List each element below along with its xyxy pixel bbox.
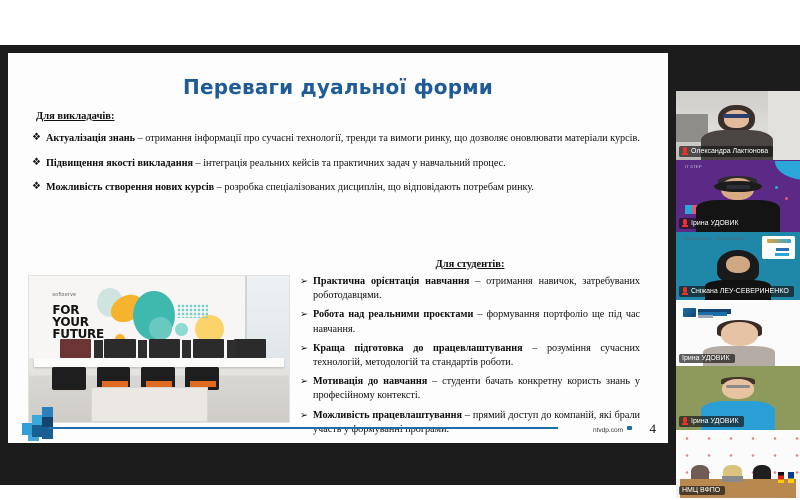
mic-muted-icon <box>682 287 688 296</box>
screenshot-root: Переваги дуальної форми Для викладачів: … <box>0 0 800 500</box>
participant-nameplate-1: Олександра Лактіонова <box>679 146 773 157</box>
photo-monitor <box>234 339 265 358</box>
participant-name-3: Сніжана ЛЕУ-СЕВЕРИНЕНКО <box>691 288 789 295</box>
participant-tile-3[interactable]: Сніжана ЛЕУ-СЕВЕРИНЕНКО <box>676 232 800 300</box>
teachers-bullet-2-rest: – інтеграція реальних кейсів та практичн… <box>193 158 506 169</box>
participant-nameplate-2: Ірина УДОВИК <box>679 218 744 229</box>
photo-blob <box>175 323 188 336</box>
eu-flag-icon <box>788 472 794 483</box>
arrow-bullet-icon: ➢ <box>300 375 308 389</box>
dniprovska-politekhnika-logo-icon <box>683 306 733 319</box>
arrow-bullet-icon: ➢ <box>300 342 308 356</box>
participant-rail[interactable]: Олександра Лактіонова IT STEP Ірина УДОВ… <box>676 91 800 500</box>
students-bullet-4: ➢ Мотивація до навчання – студенти бачат… <box>300 375 640 403</box>
participant-name-4: Ірина УДОВИК <box>682 355 730 362</box>
photo-headline-line-3: FUTURE <box>52 328 104 340</box>
photo-monitor <box>193 339 224 358</box>
teachers-bullet-2: ❖ Підвищення якості викладання – інтегра… <box>32 156 646 172</box>
participant-name-5: Ірина УДОВИК <box>691 418 739 425</box>
slide-footer: ntvdp.com 4 <box>8 401 668 443</box>
arrow-bullet-icon: ➢ <box>300 308 308 322</box>
teachers-bullet-3: ❖ Можливість створення нових курсів – ро… <box>32 180 646 196</box>
students-bullet-3-lead: Краща підготовка до працевлаштування <box>313 343 523 354</box>
shared-slide[interactable]: Переваги дуальної форми Для викладачів: … <box>8 53 668 443</box>
photo-desk <box>34 358 284 367</box>
photo-headline-line-2: YOUR <box>52 316 104 328</box>
participant-name-6: НМЦ ВФПО <box>682 487 720 494</box>
teachers-bullet-1-rest: – отримання інформації про сучасні техно… <box>135 133 640 144</box>
photo-pc-tower <box>94 340 103 358</box>
photo-blob <box>149 317 172 340</box>
footer-rule <box>48 427 558 430</box>
photo-monitor <box>104 339 135 358</box>
arrow-bullet-icon: ➢ <box>300 275 308 289</box>
photo-pc-tower <box>182 340 191 358</box>
students-bullet-2-lead: Робота над реальними проєктами <box>313 309 473 320</box>
footer-dot-icon <box>627 426 632 430</box>
slide-page-number: 4 <box>650 421 657 437</box>
participant-nameplate-5: Ірина УДОВИК <box>679 416 744 427</box>
participant-tile-4-active-speaker[interactable]: Ірина УДОВИК <box>676 300 800 366</box>
photo-monitor <box>149 339 180 358</box>
participant-nameplate-3: Сніжана ЛЕУ-СЕВЕРИНЕНКО <box>679 286 794 297</box>
softserve-logo: softserve <box>52 292 76 298</box>
participant-tile-5[interactable]: Ірина УДОВИК <box>676 366 800 430</box>
ntu-dp-logo-icon <box>22 403 68 437</box>
video-conference-canvas: Переваги дуальної форми Для викладачів: … <box>0 45 800 485</box>
teachers-section: Для викладачів: ❖ Актуалізація знань – о… <box>32 111 646 196</box>
footer-url: ntvdp.com <box>593 427 623 434</box>
teachers-bullet-3-rest: – розробка спеціалізованих дисциплін, що… <box>214 182 534 193</box>
students-bullet-4-lead: Мотивація до навчання <box>313 376 427 387</box>
slide-title: Переваги дуальної форми <box>8 75 668 99</box>
diamond-bullet-icon: ❖ <box>32 130 41 146</box>
students-bullet-3: ➢ Краща підготовка до працевлаштування –… <box>300 342 640 370</box>
teachers-heading: Для викладачів: <box>36 111 646 122</box>
participant-nameplate-4: Ірина УДОВИК <box>679 354 735 363</box>
students-bullet-2: ➢ Робота над реальними проєктами – форму… <box>300 308 640 336</box>
teachers-bullet-1: ❖ Актуалізація знань – отримання інформа… <box>32 131 646 147</box>
participant-nameplate-6: НМЦ ВФПО <box>679 486 725 495</box>
diamond-bullet-icon: ❖ <box>32 179 41 195</box>
photo-dot-pattern <box>177 304 208 319</box>
mic-muted-icon <box>682 147 688 156</box>
teachers-bullet-2-lead: Підвищення якості викладання <box>46 158 193 169</box>
diamond-bullet-icon: ❖ <box>32 155 41 171</box>
photo-headline-line-1: FOR <box>52 304 104 316</box>
photo-chair <box>52 367 86 390</box>
participant-name-1: Олександра Лактіонова <box>691 148 768 155</box>
mic-muted-icon <box>682 417 688 426</box>
students-bullet-1: ➢ Практична орієнтація навчання – отрима… <box>300 275 640 303</box>
photo-blob <box>123 296 133 306</box>
teachers-bullet-1-lead: Актуалізація знань <box>46 133 135 144</box>
participant-name-2: Ірина УДОВИК <box>691 220 739 227</box>
photo-headline: FOR YOUR FUTURE <box>52 304 104 340</box>
photo-monitor <box>60 339 91 358</box>
participant-tile-2[interactable]: IT STEP Ірина УДОВИК <box>676 160 800 232</box>
participant-tile-6[interactable]: НМЦ ВФПО <box>676 430 800 498</box>
participant-tile-1[interactable]: Олександра Лактіонова <box>676 91 800 160</box>
teachers-bullet-3-lead: Можливість створення нових курсів <box>46 182 214 193</box>
mic-muted-icon <box>682 219 688 228</box>
students-heading: Для студентів: <box>300 259 640 270</box>
photo-pc-tower <box>138 340 147 358</box>
germany-flag-icon <box>778 472 784 483</box>
photo-pc-tower <box>227 340 236 358</box>
students-bullet-1-lead: Практична орієнтація навчання <box>313 276 469 287</box>
